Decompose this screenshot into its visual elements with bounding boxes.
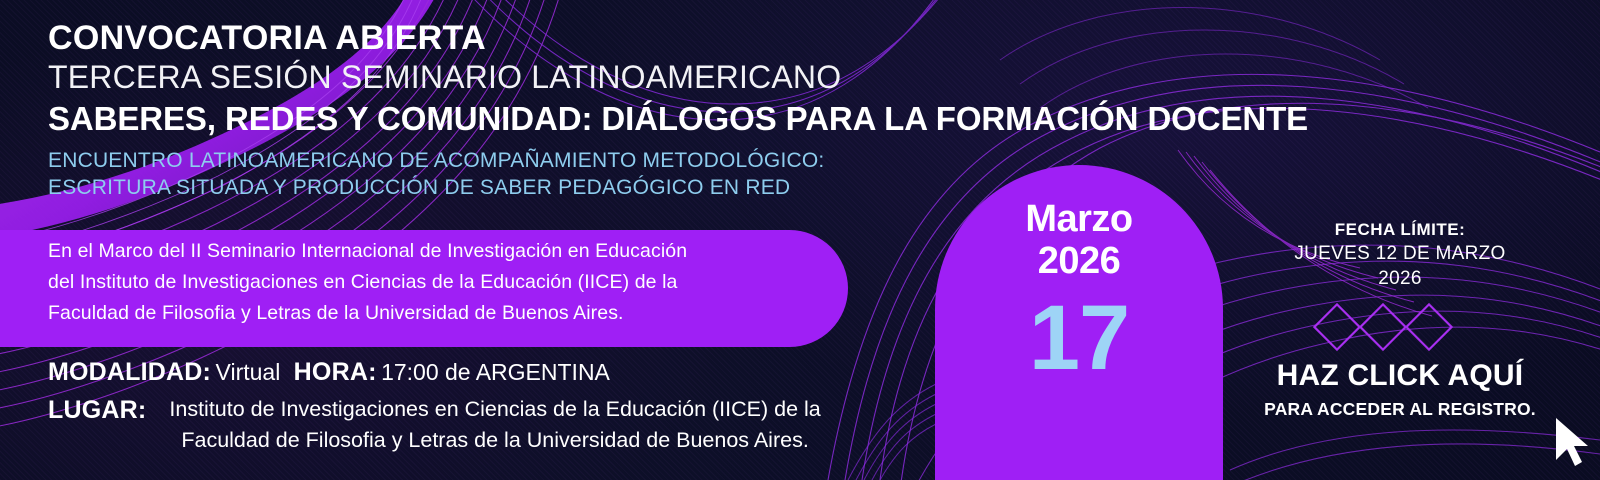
mouse-cursor-icon <box>1554 416 1594 477</box>
event-details-block: MODALIDAD: Virtual HORA: 17:00 de ARGENT… <box>48 356 928 456</box>
modalidad-label: MODALIDAD: <box>48 358 211 386</box>
deadline-value: JUEVES 12 DE MARZO 2026 <box>1245 241 1555 291</box>
lugar-label: LUGAR: <box>48 394 146 427</box>
date-month: Marzo <box>935 199 1223 240</box>
cta-click-subtitle[interactable]: PARA ACCEDER AL REGISTRO. <box>1245 397 1555 421</box>
hora-label: HORA: <box>294 358 377 386</box>
date-day: 17 <box>935 290 1223 386</box>
deadline-label: FECHA LÍMITE: <box>1245 218 1555 241</box>
headline-subtitle: TERCERA SESIÓN SEMINARIO LATINOAMERICANO <box>48 58 1548 96</box>
cta-block[interactable]: FECHA LÍMITE: JUEVES 12 DE MARZO 2026 HA… <box>1245 218 1555 421</box>
headline-block: CONVOCATORIA ABIERTA TERCERA SESIÓN SEMI… <box>48 18 1548 201</box>
cta-click-title[interactable]: HAZ CLICK AQUÍ <box>1245 359 1555 393</box>
details-row-lugar: LUGAR: Instituto de Investigaciones en C… <box>48 394 928 456</box>
headline-description: ENCUENTRO LATINOAMERICANO DE ACOMPAÑAMIE… <box>48 147 1548 201</box>
details-row-modalidad: MODALIDAD: Virtual HORA: 17:00 de ARGENT… <box>48 356 928 392</box>
date-year: 2026 <box>935 240 1223 282</box>
headline-kicker: CONVOCATORIA ABIERTA <box>48 18 1548 58</box>
modalidad-value: Virtual <box>216 359 281 385</box>
headline-main-title: SABERES, REDES Y COMUNIDAD: DIÁLOGOS PAR… <box>48 98 1548 140</box>
date-badge-arch: Marzo 2026 17 <box>935 165 1223 480</box>
diamond-divider <box>1245 299 1555 355</box>
lugar-value: Instituto de Investigaciones en Ciencias… <box>155 394 820 456</box>
hora-value: 17:00 de ARGENTINA <box>381 359 610 385</box>
framing-note-text: En el Marco del II Seminario Internacion… <box>48 236 808 329</box>
event-announcement-banner: CONVOCATORIA ABIERTA TERCERA SESIÓN SEMI… <box>0 0 1600 480</box>
